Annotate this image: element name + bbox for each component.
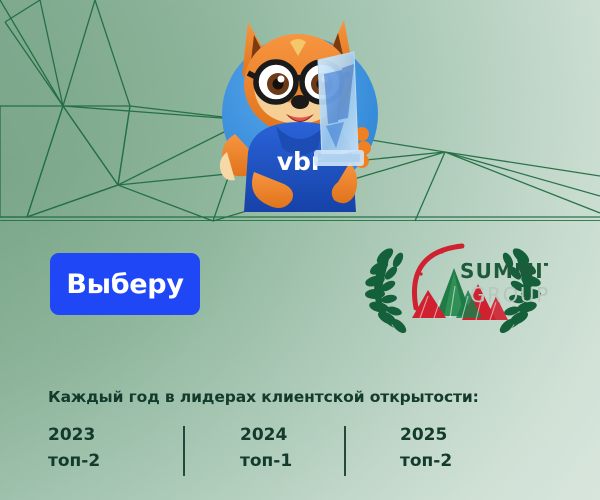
summit-logo-line2: GROUP xyxy=(470,283,548,307)
rank-label-2023: топ-2 xyxy=(48,450,198,472)
year-label-2025: 2025 xyxy=(400,424,550,446)
vyberu-logo-text: Выберу xyxy=(66,269,183,300)
year-column-2023: 2023 топ-2 xyxy=(48,424,198,472)
year-column-2025: 2025 топ-2 xyxy=(400,424,550,472)
year-label-2023: 2023 xyxy=(48,424,198,446)
vyberu-logo-badge[interactable]: Выберу xyxy=(50,253,200,315)
year-separator-1 xyxy=(183,426,185,476)
year-label-2024: 2024 xyxy=(240,424,390,446)
fox-mascot-illustration: vbr xyxy=(202,2,398,222)
rank-label-2025: топ-2 xyxy=(400,450,550,472)
years-row: 2023 топ-2 2024 топ-1 2025 топ-2 xyxy=(48,424,568,480)
summit-logo-line1: SUMMIT xyxy=(460,259,548,283)
year-column-2024: 2024 топ-1 xyxy=(240,424,390,472)
caption-text: Каждый год в лидерах клиентской открытос… xyxy=(48,388,479,406)
rank-label-2024: топ-1 xyxy=(240,450,390,472)
summit-group-logo[interactable]: SUMMIT GROUP xyxy=(358,238,548,338)
year-separator-2 xyxy=(344,426,346,476)
partner-logos-row: Выберу xyxy=(0,236,600,346)
award-banner: vbr Выберу xyxy=(0,0,600,500)
laurel-wreath-left xyxy=(364,246,409,336)
